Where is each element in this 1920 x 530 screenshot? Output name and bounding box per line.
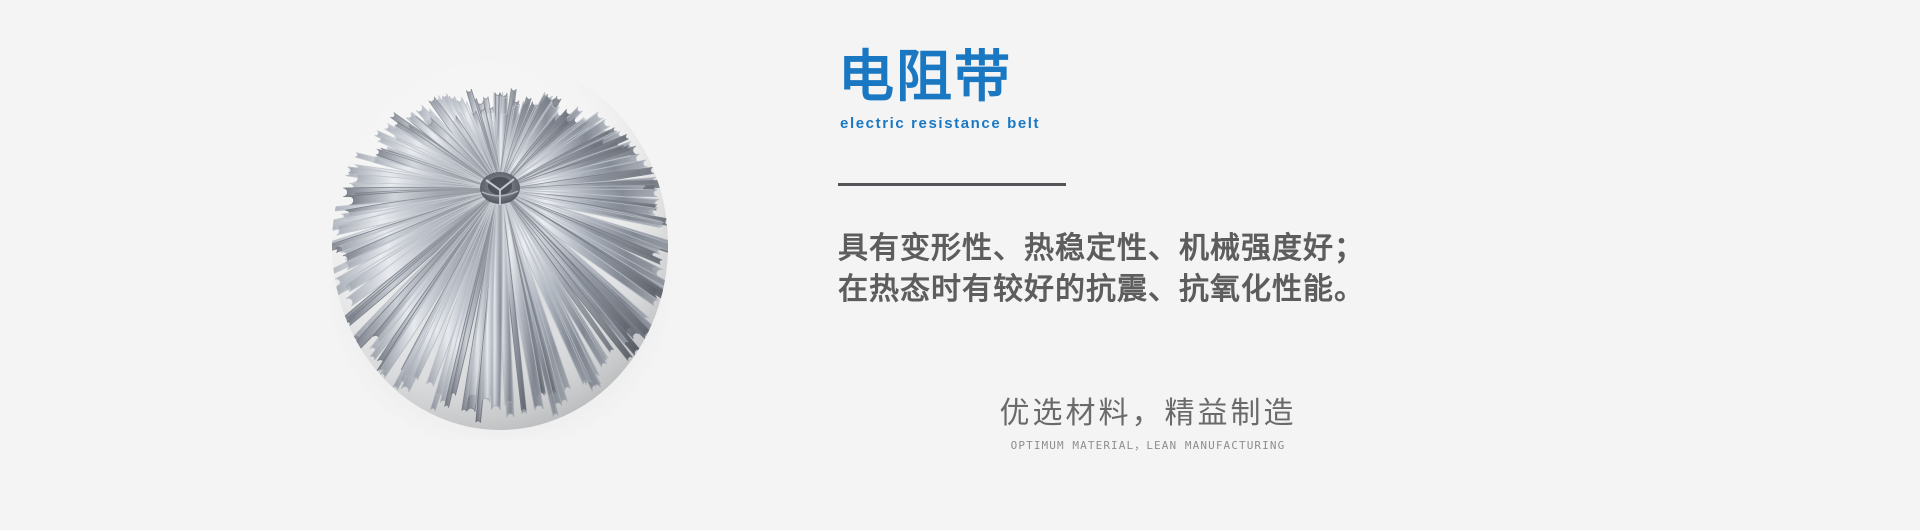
description-line-1: 具有变形性、热稳定性、机械强度好；	[838, 228, 1478, 269]
slogan-block: 优选材料，精益制造 OPTIMUM MATERIAL，LEAN MANUFACT…	[938, 395, 1358, 453]
title-divider	[838, 183, 1066, 186]
description-line-2: 在热态时有较好的抗震、抗氧化性能。	[838, 269, 1478, 310]
description-block: 具有变形性、热稳定性、机械强度好； 在热态时有较好的抗震、抗氧化性能。	[838, 228, 1478, 311]
page-subtitle: electric resistance belt	[840, 115, 1040, 132]
slogan-english: OPTIMUM MATERIAL，LEAN MANUFACTURING	[938, 437, 1358, 453]
banner-text-column: 电阻带 electric resistance belt 具有变形性、热稳定性、…	[838, 0, 1538, 530]
product-image	[300, 40, 700, 440]
title-block: 电阻带 electric resistance belt	[838, 48, 1040, 132]
product-banner: 电阻带 electric resistance belt 具有变形性、热稳定性、…	[0, 0, 1920, 530]
slogan-chinese: 优选材料，精益制造	[938, 395, 1358, 433]
page-title: 电阻带	[838, 48, 1040, 107]
